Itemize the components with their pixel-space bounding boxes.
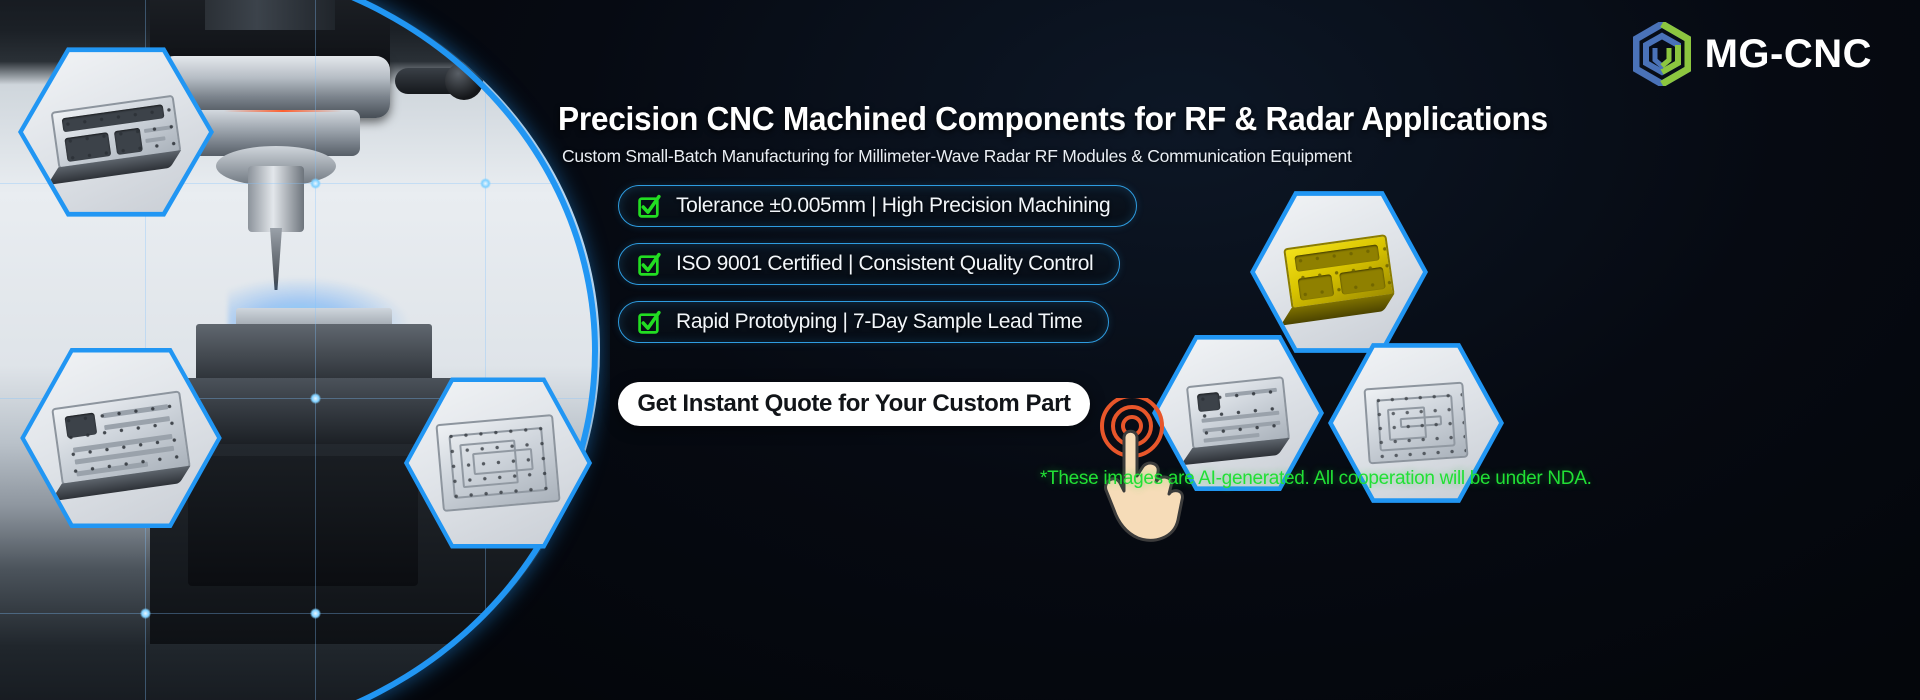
feature-label: Tolerance ±0.005mm | High Precision Mach… — [676, 194, 1110, 218]
hero-banner: MG-CNC Precision CNC Machined Components… — [0, 0, 1920, 700]
feature-item-tolerance: Tolerance ±0.005mm | High Precision Mach… — [618, 185, 1137, 227]
green-check-box-icon — [637, 310, 662, 335]
feature-item-prototyping: Rapid Prototyping | 7-Day Sample Lead Ti… — [618, 301, 1109, 343]
page-title: Precision CNC Machined Components for RF… — [558, 100, 1422, 138]
feature-label: ISO 9001 Certified | Consistent Quality … — [676, 252, 1093, 276]
ai-disclaimer-text: *These images are AI-generated. All coop… — [1040, 468, 1592, 490]
get-instant-quote-button[interactable]: Get Instant Quote for Your Custom Part — [618, 382, 1090, 426]
green-check-box-icon — [637, 252, 662, 277]
feature-item-iso: ISO 9001 Certified | Consistent Quality … — [618, 243, 1120, 285]
brand-name: MG-CNC — [1705, 32, 1872, 77]
brand-logo[interactable]: MG-CNC — [1633, 22, 1872, 86]
feature-list: Tolerance ±0.005mm | High Precision Mach… — [618, 185, 1137, 343]
green-check-box-icon — [637, 194, 662, 219]
page-subtitle: Custom Small-Batch Manufacturing for Mil… — [562, 146, 1522, 167]
content-column: MG-CNC Precision CNC Machined Components… — [540, 0, 1920, 700]
feature-label: Rapid Prototyping | 7-Day Sample Lead Ti… — [676, 310, 1082, 334]
hex-cube-logo-icon — [1633, 22, 1691, 86]
